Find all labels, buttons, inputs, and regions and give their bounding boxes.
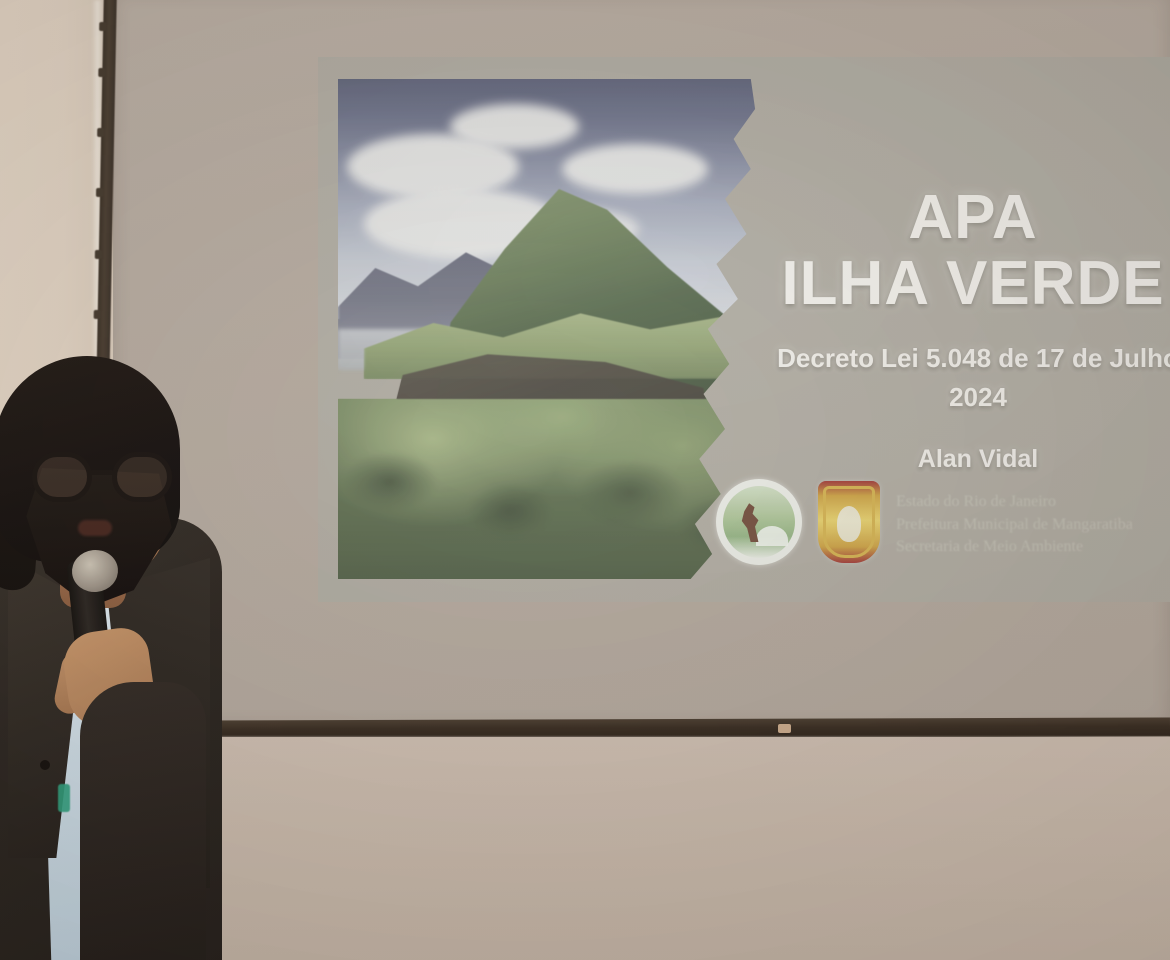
glasses-lens-left <box>32 452 92 502</box>
emblem-hill <box>756 526 788 546</box>
slide-subtitle: Decreto Lei 5.048 de 17 de Julho 2024 <box>718 339 1170 417</box>
presentation-slide: APA ILHA VERDE Decreto Lei 5.048 de 17 d… <box>318 57 1170 602</box>
glasses-icon <box>30 452 176 504</box>
presenter-arm <box>80 682 206 960</box>
rail-notch <box>95 250 102 259</box>
slide-title-line2: ILHA VERDE <box>738 251 1170 317</box>
slide-org-lines: Estado do Rio de Janeiro Prefeitura Muni… <box>896 491 1170 559</box>
slide-photo-mountain <box>338 79 768 579</box>
municipal-shield-crest-icon <box>818 481 880 563</box>
apa-round-emblem-icon <box>716 479 802 565</box>
rail-notch <box>96 188 103 197</box>
rail-notch <box>94 310 101 319</box>
wall-below-screen <box>190 737 1170 960</box>
slide-subtitle-text: Decreto Lei 5.048 de 17 de Julho <box>777 343 1170 373</box>
slide-title-line1: APA <box>908 183 1037 252</box>
presentation-photo-scene: APA ILHA VERDE Decreto Lei 5.048 de 17 d… <box>0 0 1170 960</box>
presenter-mouth <box>78 520 112 536</box>
org-line-dept: Secretaria de Meio Ambiente <box>896 536 1170 559</box>
slide-title: APA ILHA VERDE <box>738 185 1170 316</box>
presenter-jacket-button <box>40 760 50 770</box>
rail-notch <box>97 128 104 137</box>
screen-pull-tab <box>778 724 791 733</box>
presenter-badge <box>58 784 70 812</box>
org-line-state: Estado do Rio de Janeiro <box>896 491 1170 514</box>
photo-blur-overlay <box>338 79 768 579</box>
emblem-inner <box>723 486 795 558</box>
glasses-bridge <box>90 470 114 475</box>
glasses-lens-right <box>112 452 172 502</box>
rail-notch <box>99 22 106 31</box>
slide-subtitle-year: 2024 <box>718 378 1170 417</box>
rail-notch <box>98 68 105 77</box>
shield-core <box>837 506 862 542</box>
slide-author: Alan Vidal <box>718 445 1170 474</box>
org-line-city: Prefeitura Municipal de Mangaratiba <box>896 514 1170 537</box>
presenter <box>0 352 280 960</box>
